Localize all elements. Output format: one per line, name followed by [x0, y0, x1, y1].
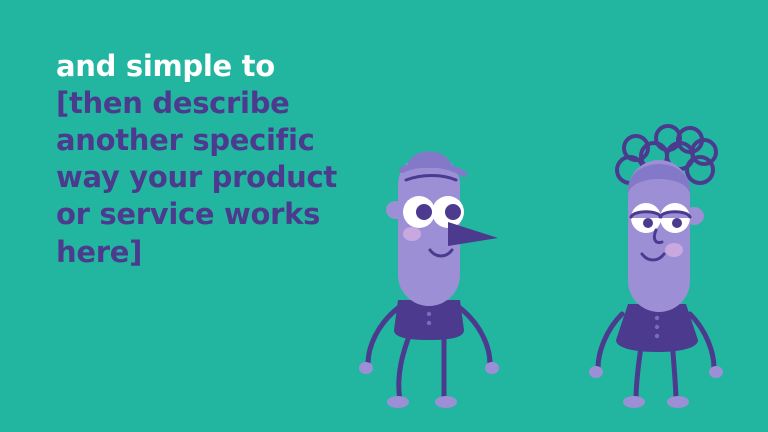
right-character-hand-left	[589, 366, 603, 378]
right-character-cheek	[665, 243, 683, 257]
headline-line-1: and simple to	[56, 48, 416, 85]
right-character-hand-right	[709, 366, 723, 378]
right-character-dress-dot-3	[655, 334, 659, 338]
left-character-nose	[448, 222, 498, 246]
left-character-pupil-left	[416, 204, 432, 220]
left-character-cheek	[403, 227, 421, 241]
left-character-ear	[386, 201, 406, 219]
slide-canvas: and simple to [then describe another spe…	[0, 0, 768, 432]
illustration-left-character	[352, 128, 532, 408]
right-character-foot-left	[623, 396, 645, 408]
left-character-hand-right	[485, 362, 499, 374]
headline-line-2: [then describe	[56, 85, 416, 122]
right-character-pupil-right	[672, 218, 682, 228]
right-character-foot-right	[667, 396, 689, 408]
left-character-arm-right	[460, 308, 490, 364]
right-character-dress-dot-2	[655, 325, 659, 329]
right-character-dress-dot-1	[655, 316, 659, 320]
left-character-arm-left	[368, 308, 398, 364]
illustration-right-character	[576, 118, 756, 408]
left-character-foot-left	[387, 396, 409, 408]
left-character-foot-right	[435, 396, 457, 408]
left-character-pupil-right	[445, 204, 461, 220]
left-character-skirt-dot-1	[427, 312, 431, 316]
left-character-hand-left	[359, 362, 373, 374]
left-character-skirt-dot-2	[427, 321, 431, 325]
right-character-pupil-left	[643, 218, 653, 228]
